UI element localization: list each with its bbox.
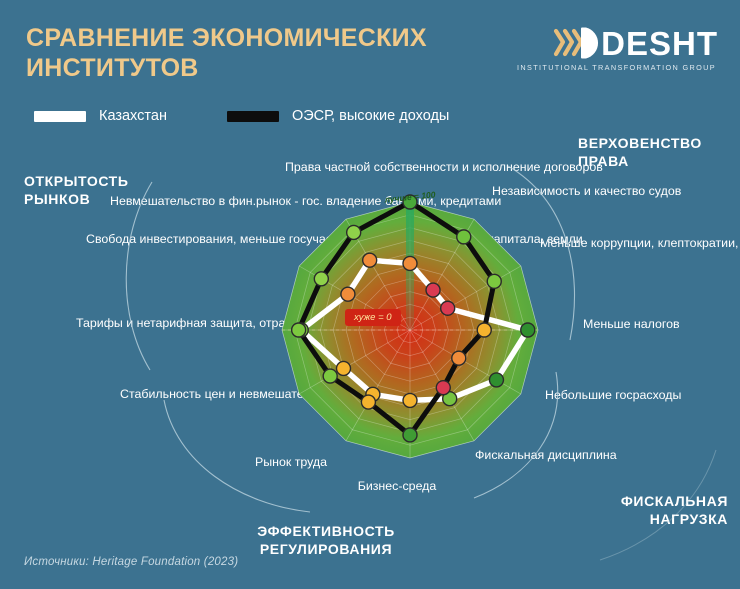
radar-data-point xyxy=(403,393,417,407)
radar-data-point xyxy=(487,274,501,288)
radar-chart: хуже = 0 лучше = 100 xyxy=(255,175,565,485)
radar-data-point xyxy=(441,301,455,315)
chevron-logo-icon xyxy=(554,26,600,60)
radar-data-point xyxy=(521,323,535,337)
page-title: СРАВНЕНИЕ ЭКОНОМИЧЕСКИХ ИНСТИТУТОВ xyxy=(26,24,496,83)
legend-swatch-oecd xyxy=(227,111,279,122)
radar-data-point xyxy=(323,369,337,383)
logo-wordmark: DESHT xyxy=(601,27,718,60)
axis-label-property-rights: Права частной собственности и исполнение… xyxy=(285,160,485,176)
legend-label-oecd: ОЭСР, высокие доходы xyxy=(292,108,449,124)
section-heading-fiscal: ФИСКАЛЬНАЯ НАГРУЗКА xyxy=(578,492,728,528)
source-note: Источники: Heritage Foundation (2023) xyxy=(24,556,238,568)
axis-label-lower-taxes: Меньше налогов xyxy=(583,317,693,333)
infographic-canvas: СРАВНЕНИЕ ЭКОНОМИЧЕСКИХ ИНСТИТУТОВ DESHT… xyxy=(0,0,740,589)
legend-label-kazakhstan: Казахстан xyxy=(99,108,167,124)
scale-min-label: хуже = 0 xyxy=(345,309,401,326)
brand-logo: DESHT INSTITUTIONAL TRANSFORMATION GROUP xyxy=(508,26,718,78)
radar-data-point xyxy=(489,373,503,387)
radar-data-point xyxy=(436,381,450,395)
chart-legend: Казахстан ОЭСР, высокие доходы xyxy=(34,108,449,124)
radar-data-point xyxy=(426,283,440,297)
radar-data-point xyxy=(361,395,375,409)
radar-data-point xyxy=(403,256,417,270)
radar-data-point xyxy=(341,287,355,301)
radar-data-point xyxy=(347,225,361,239)
radar-data-point xyxy=(292,323,306,337)
radar-chart-svg xyxy=(255,175,565,485)
logo-tagline: INSTITUTIONAL TRANSFORMATION GROUP xyxy=(508,63,718,72)
radar-data-point xyxy=(363,253,377,267)
radar-data-point xyxy=(457,230,471,244)
section-heading-regulation: ЭФФЕКТИВНОСТЬ РЕГУЛИРОВАНИЯ xyxy=(236,522,416,558)
legend-swatch-kazakhstan xyxy=(34,111,86,122)
radar-data-point xyxy=(336,361,350,375)
legend-item-kazakhstan: Казахстан xyxy=(34,108,167,124)
radar-data-point xyxy=(314,272,328,286)
axis-label-tariffs: Тарифы и нетарифная защита, отраслевые п… xyxy=(76,316,276,332)
radar-data-point xyxy=(452,351,466,365)
radar-data-point xyxy=(477,323,491,337)
legend-item-oecd: ОЭСР, высокие доходы xyxy=(227,108,449,124)
radar-data-point xyxy=(403,428,417,442)
